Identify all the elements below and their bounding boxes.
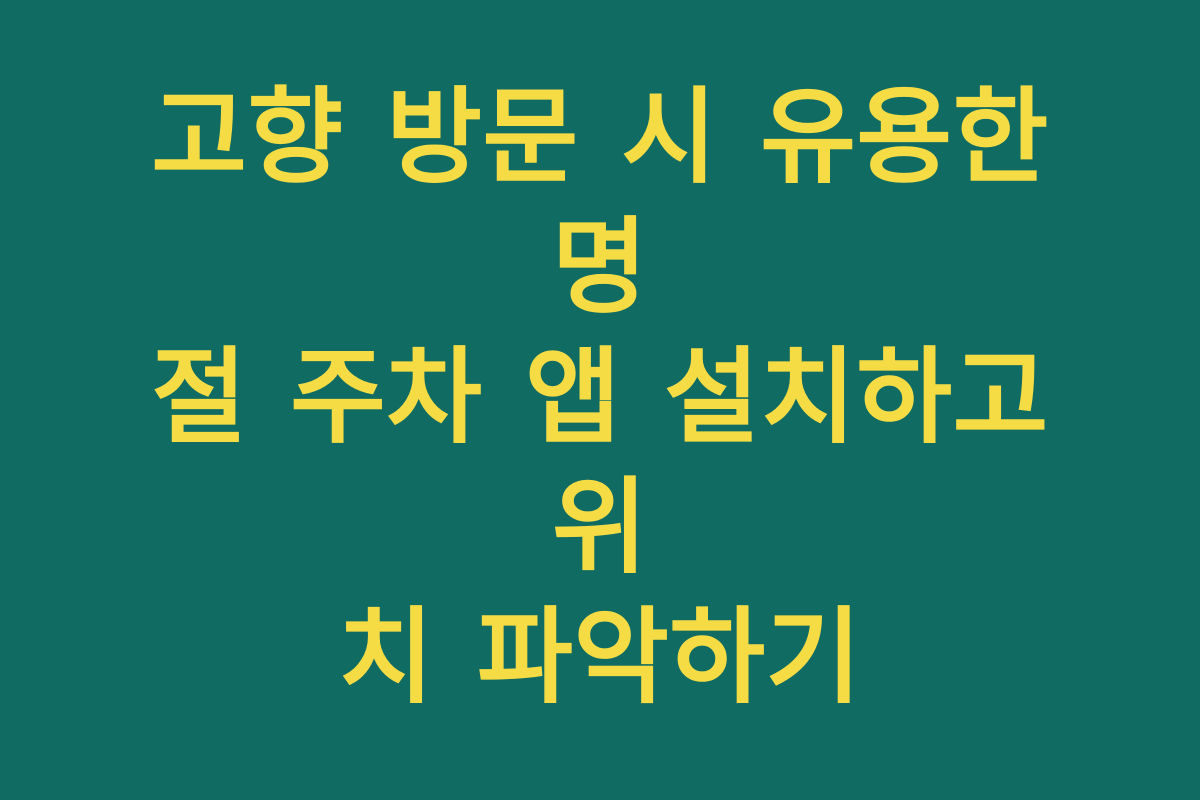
- headline-block: 고향 방문 시 유용한 명 절 주차 앱 설치하고 위 치 파악하기: [100, 72, 1100, 722]
- headline-line-1: 고향 방문 시 유용한 명: [108, 72, 1092, 332]
- page-title: 고향 방문 시 유용한 명 절 주차 앱 설치하고 위 치 파악하기: [108, 72, 1092, 722]
- title-banner: 고향 방문 시 유용한 명 절 주차 앱 설치하고 위 치 파악하기: [0, 0, 1200, 800]
- headline-line-3: 치 파악하기: [108, 592, 1092, 722]
- headline-line-2: 절 주차 앱 설치하고 위: [108, 332, 1092, 592]
